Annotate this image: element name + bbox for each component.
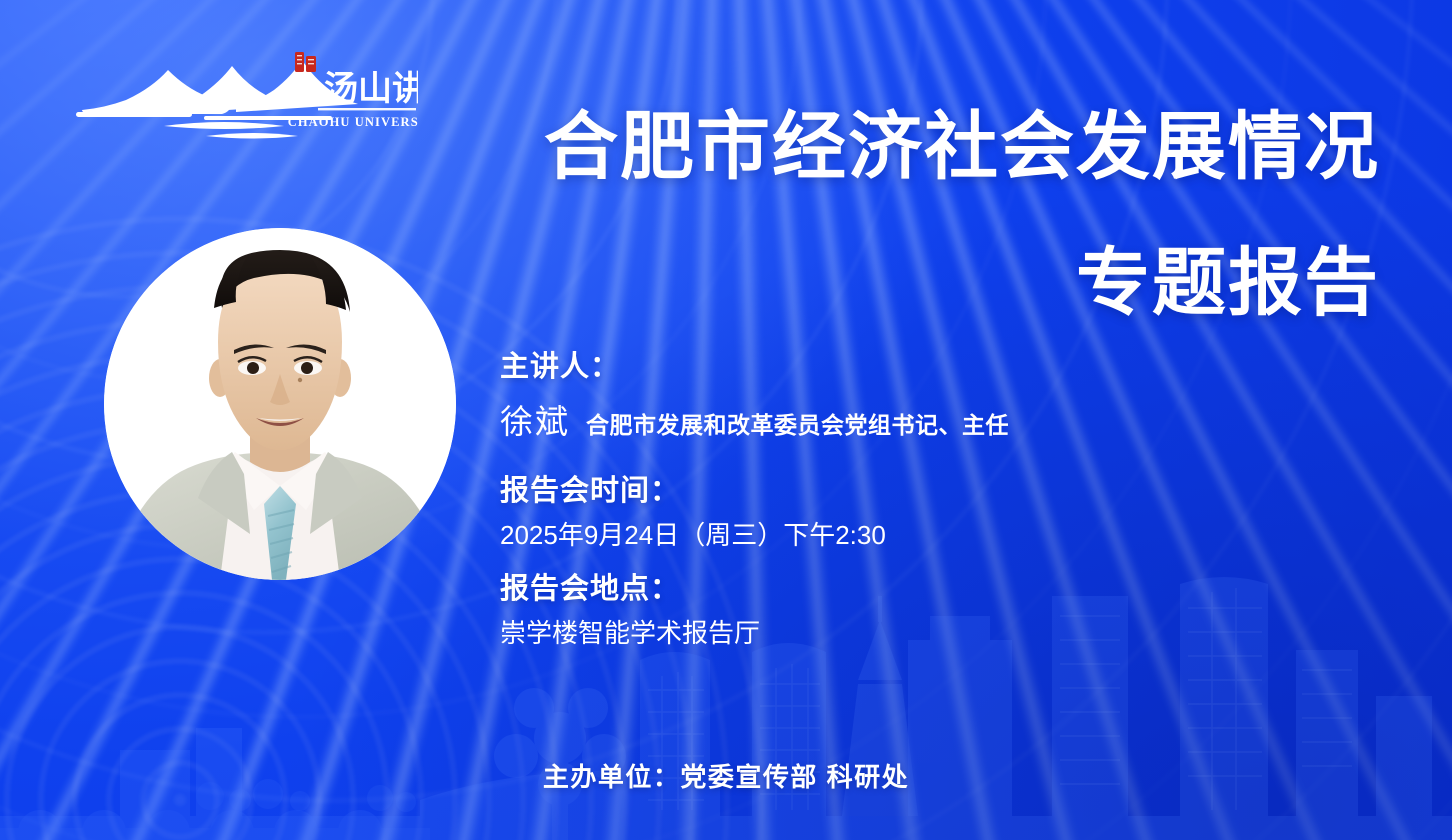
headline-line-1: 合肥市经济社会发展情况	[420, 104, 1380, 190]
speaker-name: 徐斌	[500, 395, 570, 443]
brand-logo: 汤山讲坛 CHAOHU UNIVERSITY	[68, 48, 418, 148]
speaker-title: 合肥市发展和改革委员会党组书记、主任	[586, 406, 1009, 440]
time-label: 报告会时间：	[500, 469, 1260, 513]
headline-line-2: 专题报告	[420, 240, 1380, 326]
organizer-line: 主办单位：党委宣传部 科研处	[0, 757, 1452, 794]
poster-canvas: 汤山讲坛 CHAOHU UNIVERSITY	[0, 0, 1452, 840]
venue-label: 报告会地点：	[500, 567, 1260, 611]
speaker-row: 徐斌 合肥市发展和改革委员会党组书记、主任	[500, 395, 1260, 443]
logo-subtitle: CHAOHU UNIVERSITY	[288, 115, 418, 129]
speaker-label: 主讲人：	[500, 345, 1260, 389]
venue-value: 崇学楼智能学术报告厅	[500, 611, 1260, 655]
time-value: 2025年9月24日（周三）下午2:30	[500, 513, 1260, 557]
speaker-portrait-photo	[104, 228, 456, 580]
page-title: 合肥市经济社会发展情况 专题报告	[420, 104, 1380, 326]
event-details: 主讲人： 徐斌 合肥市发展和改革委员会党组书记、主任 报告会时间： 2025年9…	[500, 345, 1260, 655]
logo-title: 汤山讲坛	[324, 70, 418, 108]
